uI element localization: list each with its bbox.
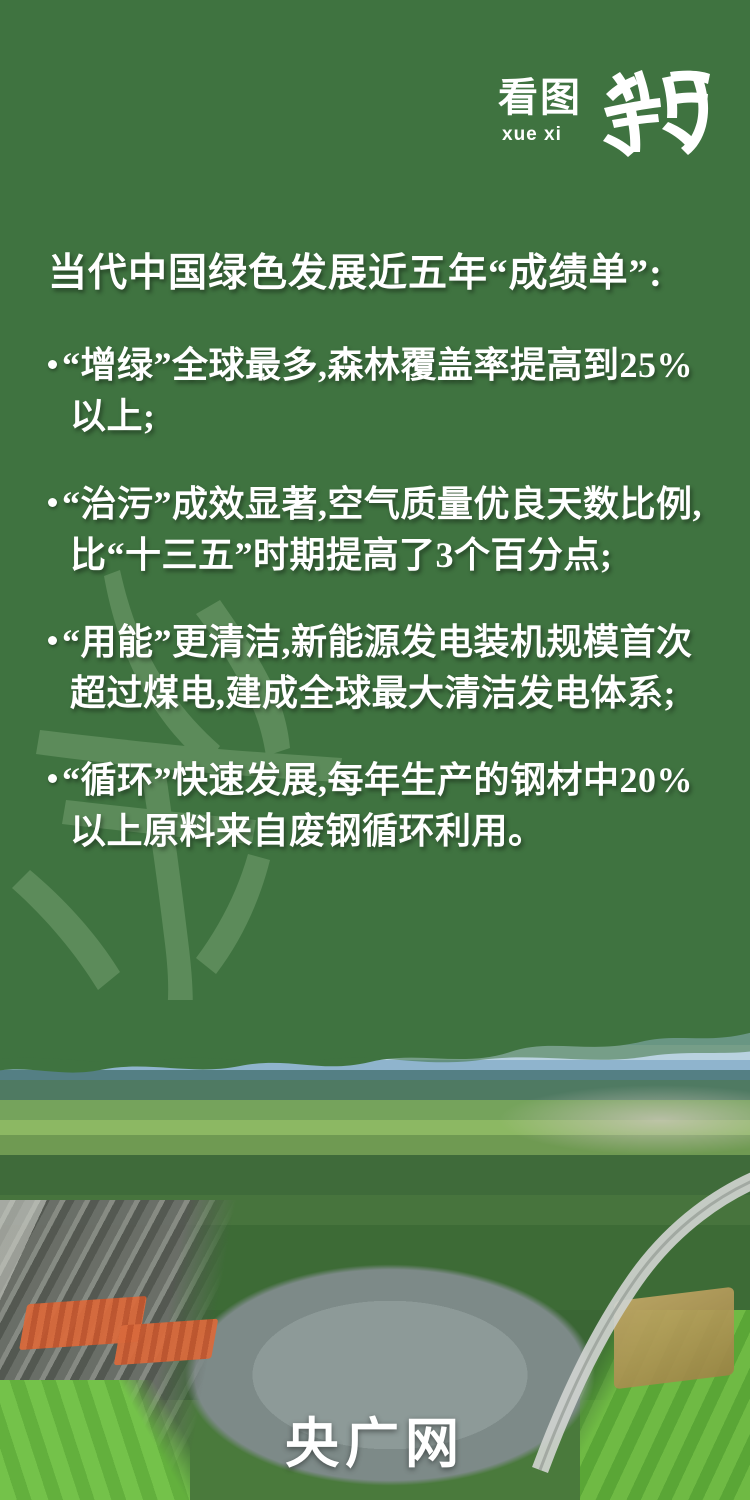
channel-logo: 央广网 bbox=[0, 1399, 750, 1478]
logo-calligraphy-icon bbox=[598, 60, 718, 160]
list-item-text: “治污”成效显著,空气质量优良天数比例,比“十三五”时期提高了3个百分点; bbox=[62, 484, 702, 575]
bullet-dot-icon bbox=[48, 636, 57, 645]
page-title: 当代中国绿色发展近五年“成绩单”: bbox=[48, 250, 712, 298]
list-item-text: “循环”快速发展,每年生产的钢材中20%以上原料来自废钢循环利用。 bbox=[62, 760, 693, 851]
content-block: 当代中国绿色发展近五年“成绩单”: “增绿”全球最多,森林覆盖率提高到25%以上… bbox=[0, 250, 750, 857]
photo-rooftop bbox=[114, 1319, 219, 1366]
list-item-text: “增绿”全球最多,森林覆盖率提高到25%以上; bbox=[62, 345, 693, 436]
list-item: “循环”快速发展,每年生产的钢材中20%以上原料来自废钢循环利用。 bbox=[48, 755, 712, 857]
list-item: “增绿”全球最多,森林覆盖率提高到25%以上; bbox=[48, 340, 712, 442]
brand-logo[interactable]: 看图 xue xi bbox=[498, 62, 708, 162]
bullet-dot-icon bbox=[48, 774, 57, 783]
logo-pinyin: xue xi bbox=[502, 125, 562, 144]
achievement-list: “增绿”全球最多,森林覆盖率提高到25%以上; “治污”成效显著,空气质量优良天… bbox=[48, 340, 712, 857]
poster: 看图 xue xi bbox=[0, 0, 750, 1500]
list-item-text: “用能”更清洁,新能源发电装机规模首次超过煤电,建成全球最大清洁发电体系; bbox=[62, 622, 693, 713]
bullet-dot-icon bbox=[48, 360, 57, 369]
list-item: “治污”成效显著,空气质量优良天数比例,比“十三五”时期提高了3个百分点; bbox=[48, 479, 712, 581]
list-item: “用能”更清洁,新能源发电装机规模首次超过煤电,建成全球最大清洁发电体系; bbox=[48, 617, 712, 719]
logo-title: 看图 bbox=[498, 78, 582, 118]
bullet-dot-icon bbox=[48, 498, 57, 507]
